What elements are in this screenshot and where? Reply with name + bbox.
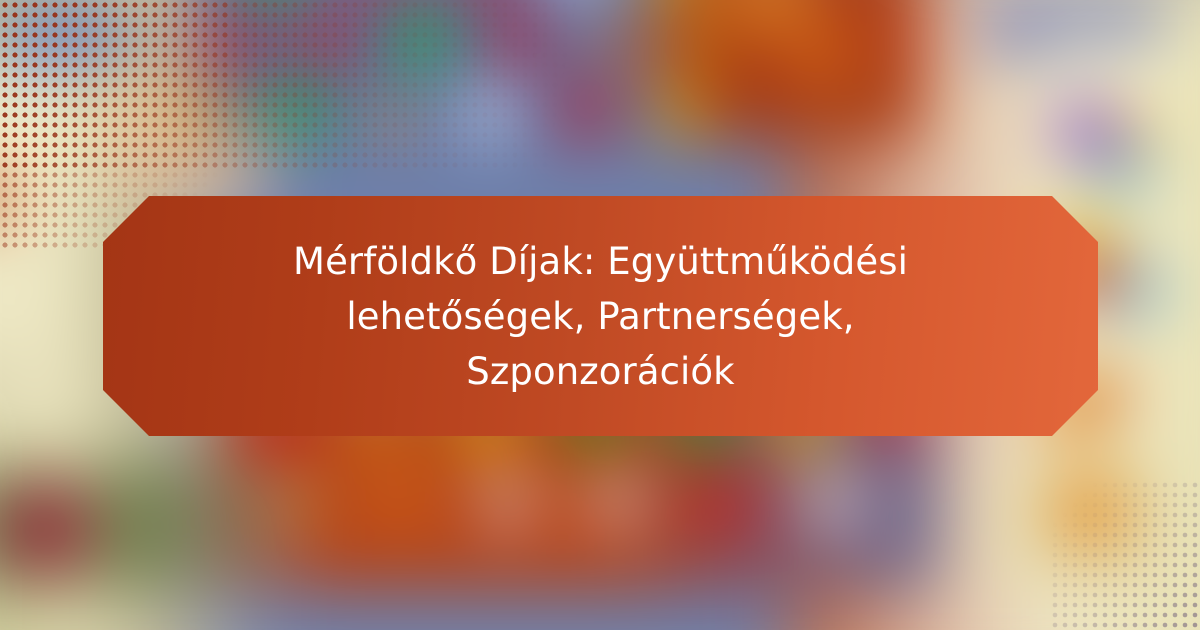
background-bottom-right-splotch xyxy=(990,460,1170,590)
background-bottom-mid-splotch xyxy=(120,460,300,590)
background-top-left-bar-secondary xyxy=(0,45,75,73)
page-title: Mérföldkő Díjak: Együttműködési lehetősé… xyxy=(241,234,961,399)
background-sidebar-gem-group-1 xyxy=(1052,90,1152,190)
background-left-card-icon xyxy=(0,165,20,225)
background-left-card-icon-secondary xyxy=(0,355,18,415)
social-share-card: Mérföldkő Díjak: Együttműködési lehetősé… xyxy=(0,0,1200,630)
title-banner: Mérföldkő Díjak: Együttműködési lehetősé… xyxy=(103,196,1098,436)
background-game-board-side-panel xyxy=(700,0,900,140)
